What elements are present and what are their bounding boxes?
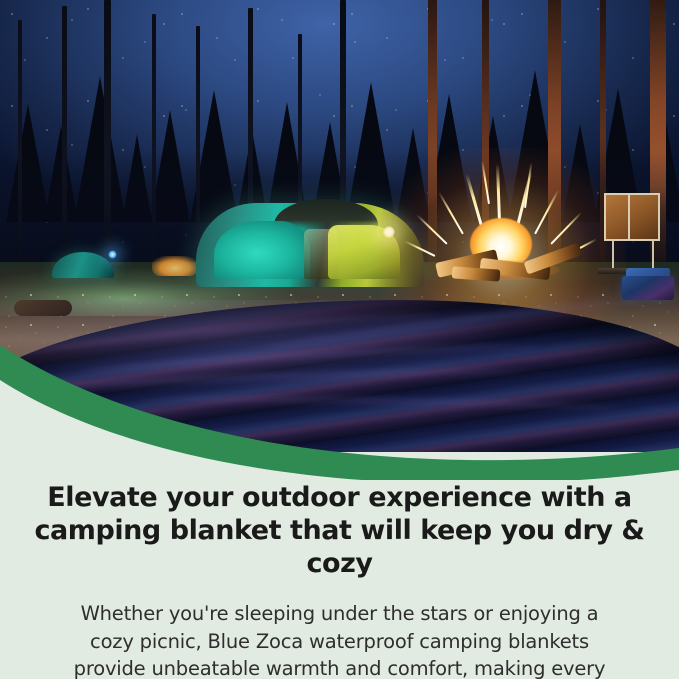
blue-lantern-icon	[108, 250, 117, 259]
text-content-block: Elevate your outdoor experience with a c…	[0, 466, 679, 679]
hero-photo	[0, 0, 679, 452]
table-top	[604, 193, 660, 241]
body-paragraph: Whether you're sleeping under the stars …	[14, 600, 665, 679]
table-divider	[628, 193, 630, 241]
page-title: Elevate your outdoor experience with a c…	[14, 482, 665, 581]
campfire	[428, 182, 578, 290]
distant-campfire-glow	[152, 256, 198, 276]
tent-panel-teal	[214, 221, 310, 279]
product-infographic-page: Elevate your outdoor experience with a c…	[0, 0, 679, 679]
cooler-bag	[622, 276, 674, 300]
camping-blanket	[0, 300, 679, 452]
